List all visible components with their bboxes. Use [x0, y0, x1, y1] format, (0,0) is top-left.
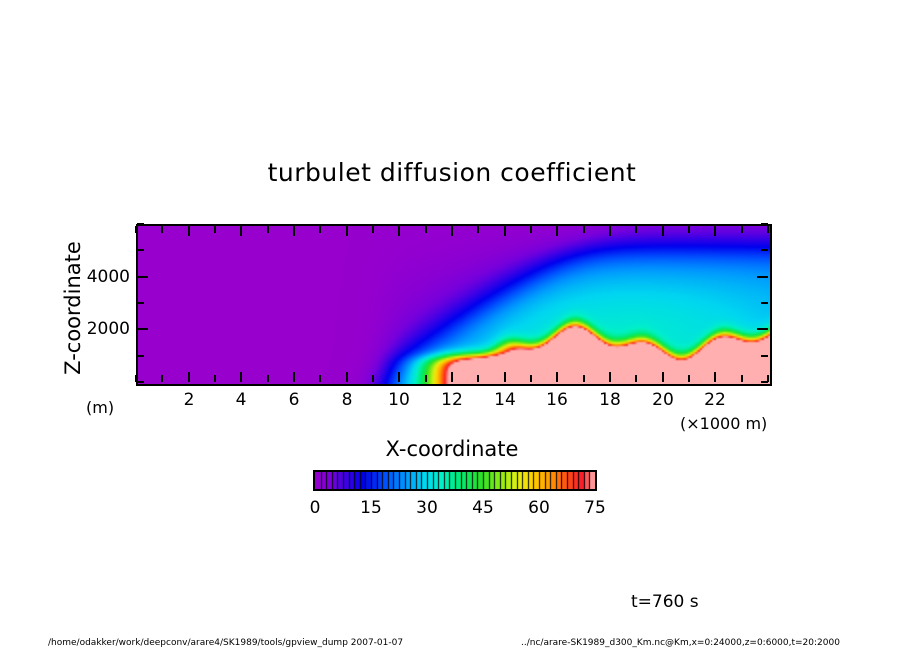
x-axis-tick — [530, 375, 532, 382]
x-axis-tick — [714, 372, 716, 382]
y-axis-tick — [137, 223, 144, 225]
x-axis-tick — [609, 226, 611, 236]
x-axis-tick-label: 20 — [643, 390, 683, 410]
y-axis-tick — [761, 249, 768, 251]
y-axis-tick — [761, 381, 768, 383]
x-axis-tick — [240, 372, 242, 382]
colorbar-gradient — [315, 472, 595, 489]
x-axis-tick — [293, 372, 295, 382]
colorbar-tick-label: 75 — [575, 498, 615, 518]
x-axis-tick — [504, 372, 506, 382]
y-axis-unit: (m) — [86, 398, 114, 417]
y-axis-tick — [137, 276, 148, 278]
x-axis-tick — [741, 375, 743, 382]
colorbar-tick-label: 0 — [295, 498, 335, 518]
contour-plot-area — [136, 224, 772, 386]
x-axis-tick — [425, 226, 427, 233]
x-axis-tick — [504, 226, 506, 236]
x-axis-tick — [583, 226, 585, 233]
x-axis-tick — [188, 226, 190, 236]
x-axis-tick — [662, 372, 664, 382]
x-axis-tick — [556, 372, 558, 382]
x-axis-tick — [635, 226, 637, 233]
x-axis-tick — [346, 226, 348, 236]
x-axis-tick-label: 18 — [590, 390, 630, 410]
x-axis-title: X-coordinate — [0, 437, 904, 461]
x-axis-tick — [451, 372, 453, 382]
footer-command-path: /home/odakker/work/deepconv/arare4/SK198… — [48, 638, 403, 648]
x-axis-tick — [530, 226, 532, 233]
page-title: turbulet diffusion coefficient — [0, 158, 904, 187]
x-axis-tick — [714, 226, 716, 236]
x-axis-tick — [135, 226, 137, 233]
x-axis-tick-label: 16 — [537, 390, 577, 410]
turbulent-diffusion-field — [138, 226, 770, 384]
colorbar-tick-label: 30 — [407, 498, 447, 518]
x-axis-tick — [556, 226, 558, 236]
footer-data-source: ../nc/arare-SK1989_d300_Km.nc@Km,x=0:240… — [521, 638, 840, 648]
y-axis-tick — [137, 328, 148, 330]
x-axis-tick — [293, 226, 295, 236]
x-axis-tick — [451, 226, 453, 236]
x-axis-tick-label: 4 — [221, 390, 261, 410]
y-axis-tick — [761, 223, 768, 225]
x-axis-tick — [635, 375, 637, 382]
x-axis-tick-label: 10 — [379, 390, 419, 410]
x-axis-tick-label: 14 — [485, 390, 525, 410]
x-axis-tick — [425, 375, 427, 382]
x-axis-tick — [161, 375, 163, 382]
x-axis-tick — [609, 372, 611, 382]
x-axis-tick — [398, 372, 400, 382]
y-axis-tick — [137, 381, 144, 383]
time-annotation: t=760 s — [631, 592, 699, 612]
x-axis-tick-label: 6 — [274, 390, 314, 410]
colorbar-tick-label: 60 — [519, 498, 559, 518]
x-axis-tick-label: 22 — [695, 390, 735, 410]
x-axis-tick — [767, 226, 769, 233]
x-axis-tick — [688, 375, 690, 382]
x-axis-tick — [188, 372, 190, 382]
x-axis-tick — [741, 226, 743, 233]
x-axis-tick — [583, 375, 585, 382]
x-axis-tick — [372, 226, 374, 233]
y-axis-tick — [761, 355, 768, 357]
x-axis-unit: (×1000 m) — [680, 414, 767, 433]
x-axis-tick — [662, 226, 664, 236]
x-axis-tick — [161, 226, 163, 233]
y-axis-tick — [761, 302, 768, 304]
y-axis-tick — [137, 355, 144, 357]
x-axis-tick — [372, 375, 374, 382]
x-axis-tick — [346, 372, 348, 382]
x-axis-tick — [214, 375, 216, 382]
x-axis-tick — [240, 226, 242, 236]
colorbar-tick-label: 45 — [463, 498, 503, 518]
y-axis-tick — [757, 328, 768, 330]
x-axis-tick — [319, 375, 321, 382]
colorbar — [313, 470, 597, 491]
x-axis-tick-label: 8 — [327, 390, 367, 410]
x-axis-tick — [214, 226, 216, 233]
y-axis-tick — [757, 276, 768, 278]
y-axis-tick — [137, 249, 144, 251]
y-axis-tick — [137, 302, 144, 304]
x-axis-tick — [688, 226, 690, 233]
x-axis-tick-label: 2 — [169, 390, 209, 410]
x-axis-tick — [267, 375, 269, 382]
x-axis-tick — [267, 226, 269, 233]
y-axis-title: Z-coordinate — [61, 193, 85, 423]
x-axis-tick-label: 12 — [432, 390, 472, 410]
colorbar-tick-label: 15 — [351, 498, 391, 518]
x-axis-tick — [477, 226, 479, 233]
x-axis-tick — [477, 375, 479, 382]
x-axis-tick — [398, 226, 400, 236]
x-axis-tick — [319, 226, 321, 233]
